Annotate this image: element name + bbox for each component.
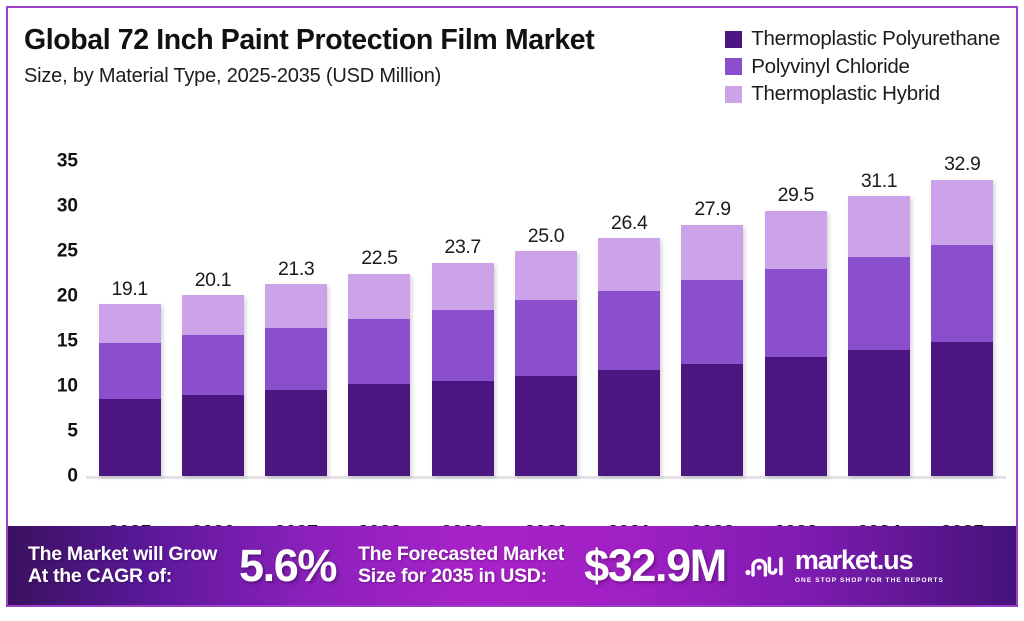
bar-group[interactable]: 25.0 xyxy=(504,120,587,523)
bar-segment[interactable] xyxy=(765,269,827,357)
forecast-caption-line1: The Forecasted Market xyxy=(358,543,564,565)
bar-segment[interactable] xyxy=(99,399,161,476)
bar-segment[interactable] xyxy=(515,300,577,377)
bar-total-label: 21.3 xyxy=(278,260,314,280)
bar-total-label: 22.5 xyxy=(361,249,397,269)
bar-segment[interactable] xyxy=(265,284,327,327)
bar-segment[interactable] xyxy=(931,245,993,342)
legend-item-thermoplastic-hybrid[interactable]: Thermoplastic Hybrid xyxy=(725,83,1000,106)
bar-total-label: 26.4 xyxy=(611,214,647,234)
bar-segment[interactable] xyxy=(765,211,827,270)
bar-segment[interactable] xyxy=(598,370,660,476)
bar-segment[interactable] xyxy=(681,280,743,364)
chart-plot-area: 05101520253035 19.120.121.322.523.725.02… xyxy=(8,120,1016,523)
title-block: Global 72 Inch Paint Protection Film Mar… xyxy=(24,24,594,88)
bar-total-label: 31.1 xyxy=(861,172,897,192)
summary-banner: The Market will Grow At the CAGR of: 5.6… xyxy=(8,526,1016,605)
logo-wordmark: market.us xyxy=(795,547,944,574)
legend-swatch-icon xyxy=(725,58,742,75)
market-us-logo[interactable]: market.us ONE STOP SHOP FOR THE REPORTS xyxy=(744,547,944,584)
bar-segment[interactable] xyxy=(848,257,910,350)
bar-segment[interactable] xyxy=(348,274,410,319)
bar-group[interactable]: 29.5 xyxy=(754,120,837,523)
bar-segment[interactable] xyxy=(515,376,577,476)
bar-stack[interactable] xyxy=(515,251,577,476)
bar-group[interactable]: 22.5 xyxy=(338,120,421,523)
bar-segment[interactable] xyxy=(848,196,910,257)
bar-group[interactable]: 19.1 xyxy=(88,120,171,523)
bar-segment[interactable] xyxy=(182,335,244,395)
market-us-logomark-icon xyxy=(744,551,786,581)
bar-group[interactable]: 21.3 xyxy=(255,120,338,523)
legend-label: Thermoplastic Hybrid xyxy=(751,83,940,106)
legend-label: Polyvinyl Chloride xyxy=(751,56,909,79)
legend-item-thermoplastic-polyurethane[interactable]: Thermoplastic Polyurethane xyxy=(725,28,1000,51)
bar-segment[interactable] xyxy=(265,328,327,390)
bar-total-label: 25.0 xyxy=(528,227,564,247)
chart-legend: Thermoplastic Polyurethane Polyvinyl Chl… xyxy=(725,28,1000,106)
forecast-caption: The Forecasted Market Size for 2035 in U… xyxy=(358,544,564,588)
legend-swatch-icon xyxy=(725,31,742,48)
logo-text: market.us ONE STOP SHOP FOR THE REPORTS xyxy=(795,547,944,584)
bar-segment[interactable] xyxy=(348,384,410,476)
infographic-card: Global 72 Inch Paint Protection Film Mar… xyxy=(6,6,1018,607)
bar-segment[interactable] xyxy=(515,251,577,300)
cagr-value: 5.6% xyxy=(239,543,336,588)
bar-stack[interactable] xyxy=(931,180,993,476)
y-axis: 05101520253035 xyxy=(8,120,86,523)
bar-total-label: 32.9 xyxy=(944,155,980,175)
bar-segment[interactable] xyxy=(348,319,410,385)
y-axis-tick: 10 xyxy=(57,377,78,396)
bar-segment[interactable] xyxy=(432,263,494,310)
cagr-caption-line2: At the CAGR of: xyxy=(28,565,172,587)
bar-group[interactable]: 32.9 xyxy=(921,120,1004,523)
bar-stack[interactable] xyxy=(432,263,494,476)
cagr-caption-line1: The Market will Grow xyxy=(28,543,217,565)
bar-segment[interactable] xyxy=(931,180,993,245)
bar-stack[interactable] xyxy=(765,211,827,476)
chart-subtitle: Size, by Material Type, 2025-2035 (USD M… xyxy=(24,64,594,88)
bar-stack[interactable] xyxy=(598,238,660,476)
bar-total-label: 29.5 xyxy=(778,186,814,206)
bar-series-container: 19.120.121.322.523.725.026.427.929.531.1… xyxy=(88,120,1004,523)
bar-total-label: 27.9 xyxy=(694,200,730,220)
forecast-value: $32.9M xyxy=(584,543,726,588)
bar-segment[interactable] xyxy=(598,291,660,370)
logo-tagline: ONE STOP SHOP FOR THE REPORTS xyxy=(795,577,944,584)
bar-segment[interactable] xyxy=(432,381,494,476)
bar-segment[interactable] xyxy=(765,357,827,476)
bar-stack[interactable] xyxy=(348,274,410,476)
bar-group[interactable]: 23.7 xyxy=(421,120,504,523)
bar-segment[interactable] xyxy=(432,310,494,381)
bar-segment[interactable] xyxy=(931,342,993,476)
y-axis-tick: 35 xyxy=(57,152,78,171)
bar-group[interactable]: 31.1 xyxy=(837,120,920,523)
bar-segment[interactable] xyxy=(182,395,244,476)
bar-segment[interactable] xyxy=(99,343,161,399)
y-axis-tick: 25 xyxy=(57,242,78,261)
legend-item-polyvinyl-chloride[interactable]: Polyvinyl Chloride xyxy=(725,56,1000,79)
bar-total-label: 20.1 xyxy=(195,271,231,291)
bar-segment[interactable] xyxy=(182,295,244,335)
chart-header: Global 72 Inch Paint Protection Film Mar… xyxy=(8,8,1016,120)
bar-segment[interactable] xyxy=(681,364,743,477)
bar-segment[interactable] xyxy=(265,390,327,476)
y-axis-tick: 15 xyxy=(57,332,78,351)
bar-segment[interactable] xyxy=(681,225,743,280)
bar-segment[interactable] xyxy=(848,350,910,476)
cagr-caption: The Market will Grow At the CAGR of: xyxy=(28,544,217,588)
bar-group[interactable]: 26.4 xyxy=(588,120,671,523)
bar-stack[interactable] xyxy=(681,225,743,476)
y-axis-tick: 5 xyxy=(67,422,78,441)
legend-label: Thermoplastic Polyurethane xyxy=(751,28,1000,51)
bar-segment[interactable] xyxy=(99,304,161,343)
bar-stack[interactable] xyxy=(99,304,161,476)
page-title: Global 72 Inch Paint Protection Film Mar… xyxy=(24,24,594,57)
bar-stack[interactable] xyxy=(265,284,327,476)
forecast-caption-line2: Size for 2035 in USD: xyxy=(358,565,547,587)
bar-stack[interactable] xyxy=(848,196,910,476)
bar-total-label: 23.7 xyxy=(445,238,481,258)
bar-stack[interactable] xyxy=(182,295,244,476)
y-axis-tick: 20 xyxy=(57,287,78,306)
y-axis-tick: 30 xyxy=(57,197,78,216)
bar-group[interactable]: 20.1 xyxy=(171,120,254,523)
y-axis-tick: 0 xyxy=(67,467,78,486)
bar-segment[interactable] xyxy=(598,238,660,290)
legend-swatch-icon xyxy=(725,86,742,103)
bar-total-label: 19.1 xyxy=(111,280,147,300)
bar-group[interactable]: 27.9 xyxy=(671,120,754,523)
